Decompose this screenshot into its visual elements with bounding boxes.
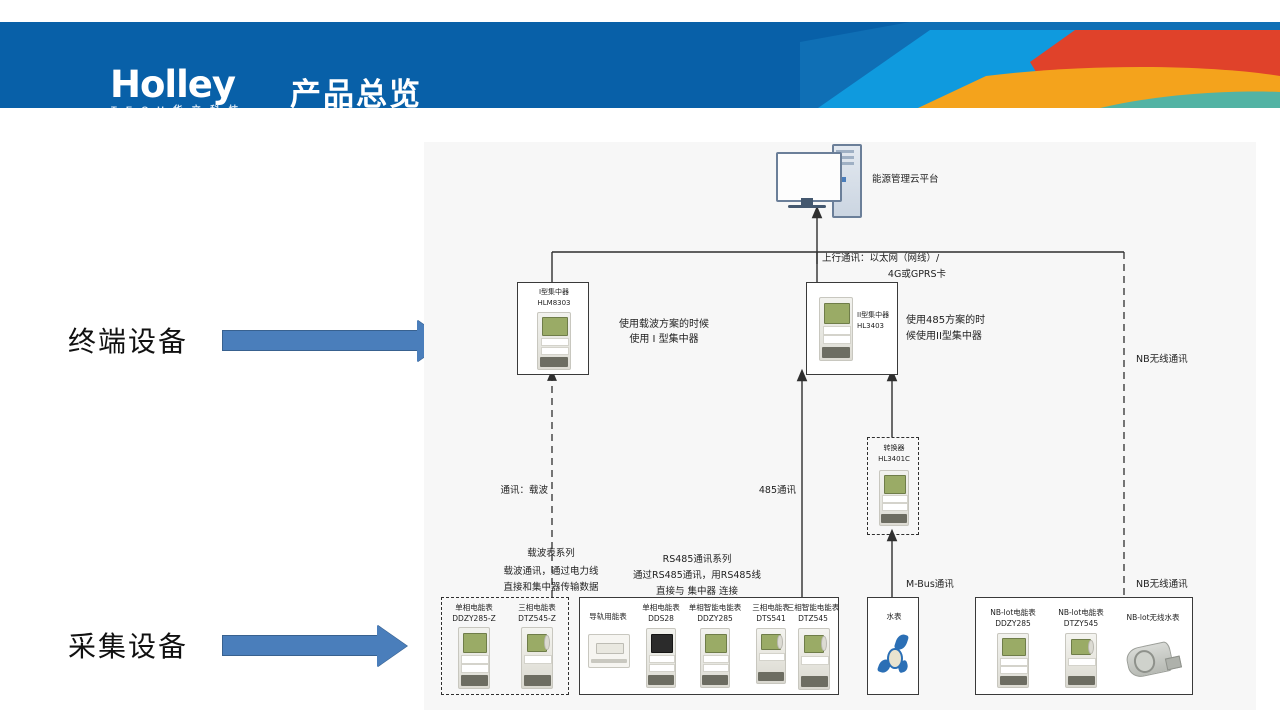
device-model: DTZ545 (784, 614, 842, 624)
holley-logo: Holley T E C H 华 立 科 技 (110, 66, 270, 108)
device-image-water-meter (877, 630, 913, 682)
device-name: 三相智能电能表 (784, 603, 842, 613)
device-image-meter-three (521, 627, 553, 689)
converter-box[interactable]: 转换器 HL3401C (867, 437, 919, 535)
page-title: 产品总览 (290, 69, 422, 108)
pc-monitor-neck (801, 198, 813, 205)
terminal-equipment-arrow (222, 320, 450, 362)
header-swoosh-graphic (800, 22, 1280, 108)
group-rs485-title: RS485通讯系列 (582, 554, 812, 567)
arrow-shaft (222, 635, 380, 656)
device-name: 单相电能表 (634, 603, 688, 613)
cloud-platform-computer-icon (776, 144, 860, 214)
concentrator-2-device-image (819, 297, 853, 361)
device-name: 单相电能表 (446, 603, 502, 613)
concentrator-1-model: HLM8303 (518, 299, 590, 308)
group-water-box[interactable]: 水表 (867, 597, 919, 695)
group-carrier-box[interactable]: 单相电能表 DDZY285-Z 三相电能表 DTZ545-Z (441, 597, 569, 695)
logo-wordmark: Holley (110, 66, 235, 103)
device-model: DDZY285-Z (446, 614, 502, 624)
concentrator-1-device-image (537, 312, 571, 370)
converter-name: 转换器 (868, 444, 920, 453)
uplink-note-line1: 上行通讯：以太网（网线）/ (822, 253, 1012, 266)
device-image-meter-dark (646, 628, 676, 688)
concentrator-2-name: II型集中器 (857, 311, 901, 320)
device-image-meter-single (458, 627, 490, 689)
link-label-nb-bottom: NB无线通讯 (1136, 579, 1236, 592)
link-label-carrier: 通讯：载波 (472, 485, 548, 498)
group-nbiot-box[interactable]: NB-lot电能表 DDZY285 NB-lot电能表 DTZY545 NB-l… (975, 597, 1193, 695)
link-label-mbus: M-Bus通讯 (906, 579, 998, 592)
device-model: DDZY285 (982, 619, 1044, 629)
device-image-nb-water-meter (1124, 634, 1182, 686)
collection-equipment-arrow (222, 625, 410, 667)
slide-root: Holley T E C H 华 立 科 技 产品总览 终端设备 采集设备 (0, 0, 1280, 720)
slide-header: Holley T E C H 华 立 科 技 产品总览 (0, 22, 1280, 108)
device-name: 水表 (868, 612, 920, 622)
device-model: DDZY285 (684, 614, 746, 624)
concentrator-1-note-line2: 使用 I 型集中器 (594, 333, 734, 348)
concentrator-2-box[interactable]: II型集中器 HL3403 (806, 282, 898, 375)
link-label-485: 485通讯 (724, 485, 796, 498)
device-image-meter-single (700, 628, 730, 688)
device-image-meter-three (798, 628, 830, 690)
device-model: DDS28 (634, 614, 688, 624)
uplink-note-line2: 4G或GPRS卡 (822, 269, 1012, 282)
device-name: NB-lot电能表 (982, 608, 1044, 618)
architecture-diagram: 能源管理云平台 上行通讯：以太网（网线）/ 4G或GPRS卡 I型集中器 HLM… (424, 142, 1256, 710)
device-name: 导轨用能表 (582, 612, 634, 622)
concentrator-1-name: I型集中器 (518, 288, 590, 297)
arrow-shaft (222, 330, 420, 351)
pc-monitor (776, 152, 842, 202)
logo-subtext: T E C H 华 立 科 技 (111, 102, 241, 108)
device-image-meter-rail (588, 634, 630, 668)
concentrator-2-model: HL3403 (857, 322, 901, 331)
concentrator-1-box[interactable]: I型集中器 HLM8303 (517, 282, 589, 375)
device-name: 三相电能表 (508, 603, 566, 613)
device-name: 单相智能电能表 (684, 603, 746, 613)
group-rs485-desc-1: 通过RS485通讯，用RS485线 (582, 570, 812, 583)
group-rs485-box[interactable]: 导轨用能表 单相电能表 DDS28 单相智能电能表 DDZY285 三相电能表 … (579, 597, 839, 695)
device-model: DTZY545 (1050, 619, 1112, 629)
device-image-meter-three (756, 628, 786, 684)
converter-device-image (879, 470, 909, 526)
converter-model: HL3401C (868, 455, 920, 464)
concentrator-1-note-line1: 使用载波方案的时候 (594, 318, 734, 333)
pc-monitor-base (788, 205, 826, 208)
device-model: DTZ545-Z (508, 614, 566, 624)
collection-equipment-label: 采集设备 (68, 625, 188, 665)
arrow-head-fill (377, 625, 407, 667)
device-image-meter-single (997, 633, 1029, 688)
link-label-nb-top: NB无线通讯 (1136, 354, 1236, 367)
concentrator-2-note-line2: 候使用II型集中器 (906, 330, 1036, 345)
concentrator-2-note-line1: 使用485方案的时 (906, 314, 1036, 329)
device-image-meter-three (1065, 633, 1097, 688)
cloud-platform-label: 能源管理云平台 (872, 174, 1012, 187)
terminal-equipment-label: 终端设备 (68, 320, 188, 360)
device-name: NB-lot电能表 (1050, 608, 1112, 618)
device-name: NB-lot无线水表 (1116, 613, 1190, 623)
